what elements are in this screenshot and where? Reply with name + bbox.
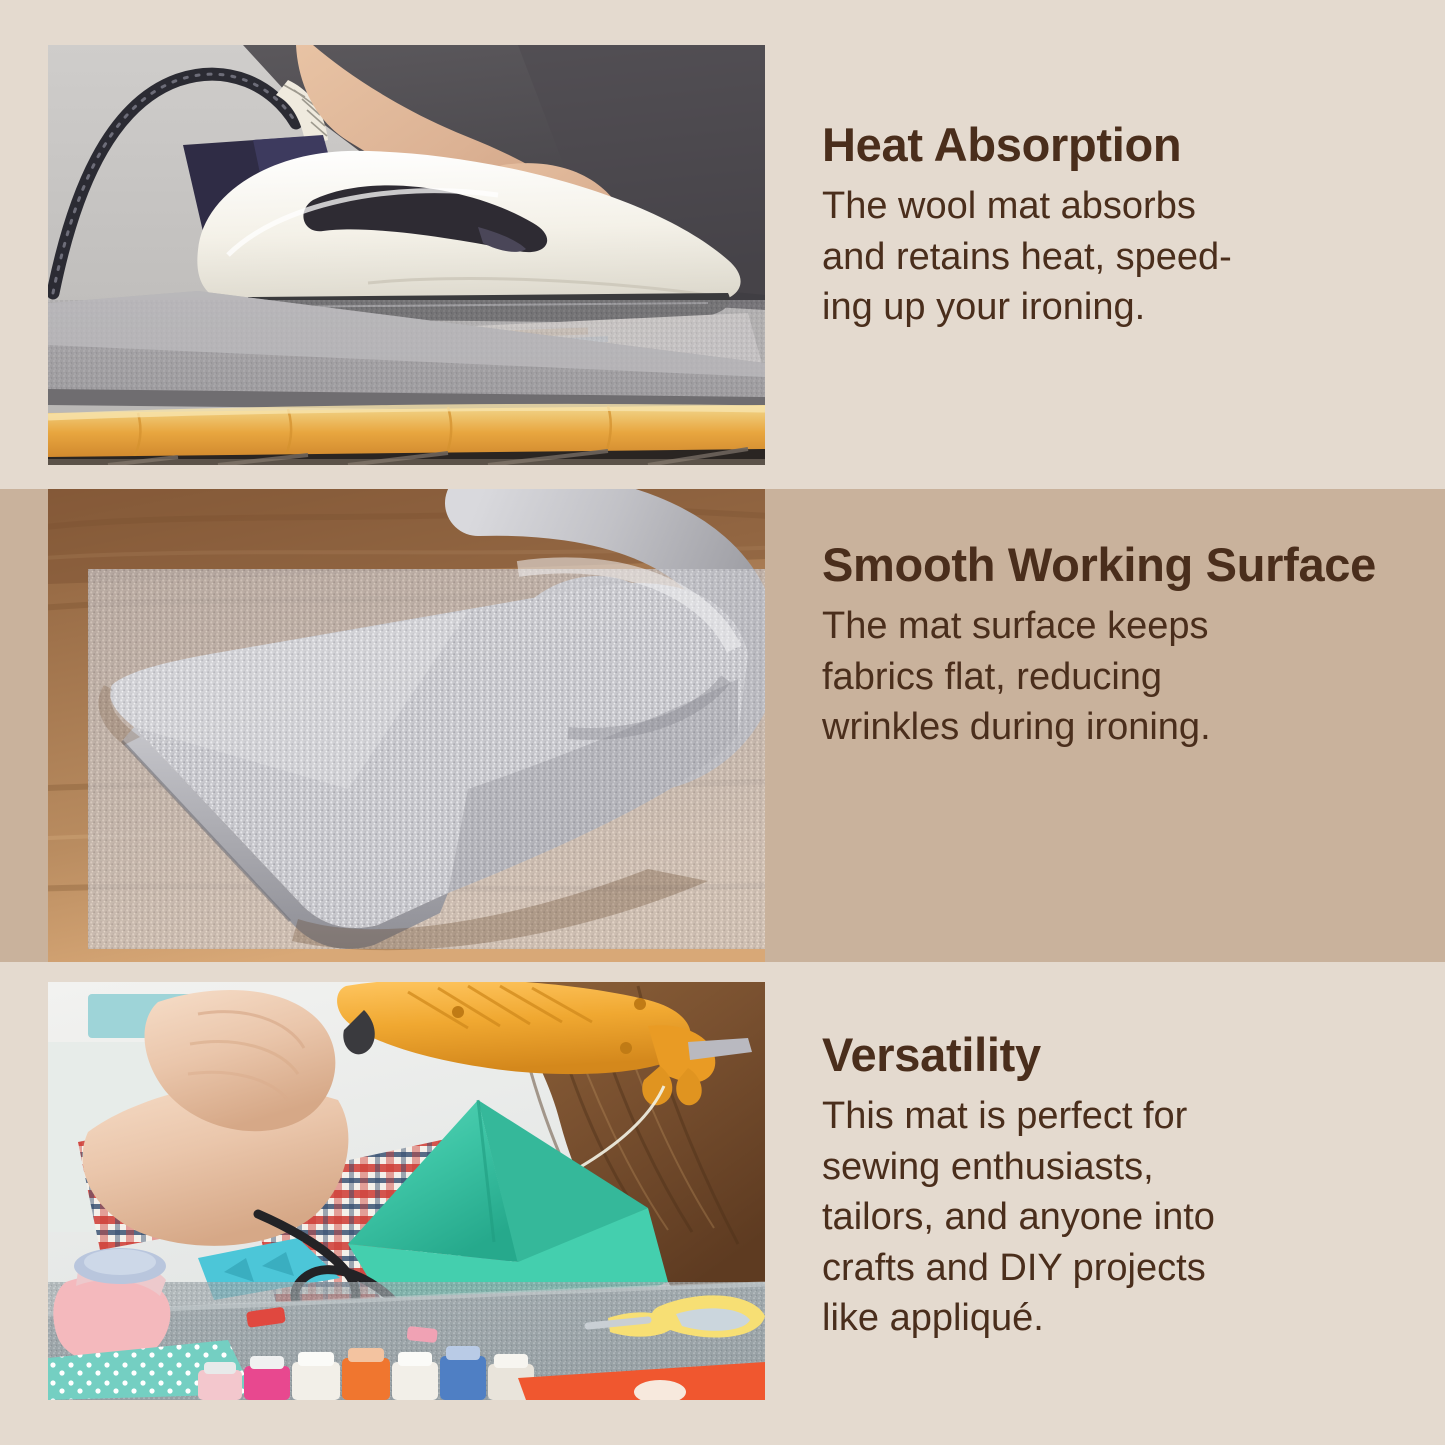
feature-text-versatility: Versatility This mat is perfect for sewi… [822,1028,1382,1344]
desc-line: fabrics flat, reducing [822,652,1382,703]
desc-line: and retains heat, speed- [822,232,1382,283]
feature-title: Versatility [822,1028,1382,1081]
feature-image-versatility [48,982,765,1400]
desc-line: The wool mat absorbs [822,181,1382,232]
feature-description: The wool mat absorbs and retains heat, s… [822,181,1382,333]
feature-image-smooth-working-surface [48,489,765,962]
desc-line: ing up your ironing. [822,282,1382,333]
feature-text-heat-absorption: Heat Absorption The wool mat absorbs and… [822,118,1382,333]
feature-text-smooth-working-surface: Smooth Working Surface The mat surface k… [822,538,1382,753]
feature-image-heat-absorption [48,45,765,465]
desc-line: sewing enthusiasts, [822,1142,1382,1193]
wool-mat-photo-illustration [48,489,765,962]
feature-title: Heat Absorption [822,118,1382,171]
desc-line: crafts and DIY projects [822,1243,1382,1294]
title-line: Smooth Working [822,538,1193,591]
feature-title: Smooth Working Surface [822,538,1382,591]
desc-line: tailors, and anyone into [822,1192,1382,1243]
desc-line: like appliqué. [822,1293,1382,1344]
desc-line: This mat is perfect for [822,1091,1382,1142]
feature-description: This mat is perfect for sewing enthusias… [822,1091,1382,1344]
feature-description: The mat surface keeps fabrics flat, redu… [822,601,1382,753]
ironing-photo-illustration [48,45,765,465]
title-line: Surface [1206,538,1376,591]
craft-gluegun-photo-illustration [48,982,765,1400]
desc-line: wrinkles during ironing. [822,702,1382,753]
infographic-page: Heat Absorption The wool mat absorbs and… [0,0,1445,1445]
desc-line: The mat surface keeps [822,601,1382,652]
